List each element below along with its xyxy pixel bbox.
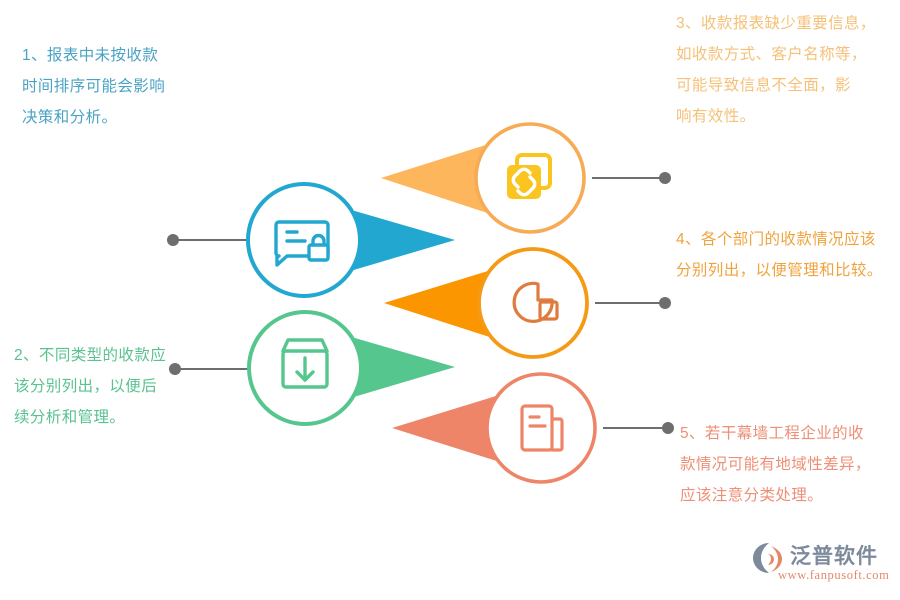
annotation-5: 5、若干幕墙工程企业的收 款情况可能有地域性差异， 应该注意分类处理。 (680, 418, 890, 511)
logo-name: 泛普软件 (790, 540, 878, 570)
annotation-1: 1、报表中未按收款 时间排序可能会影响 决策和分析。 (22, 40, 232, 133)
logo-url: www.fanpusoft.com (778, 568, 889, 583)
connector-node-5 (603, 422, 674, 434)
node-2[interactable] (249, 312, 361, 424)
annotation-3: 3、收款报表缺少重要信息， 如收款方式、客户名称等， 可能导致信息不全面，影 响… (676, 8, 888, 132)
node-1[interactable] (248, 184, 360, 296)
node-4[interactable] (479, 249, 587, 357)
node-3[interactable] (476, 124, 584, 232)
node-4-circle (479, 249, 587, 357)
infographic-canvas: 1、报表中未按收款 时间排序可能会影响 决策和分析。 2、不同类型的收款应 该分… (0, 0, 900, 600)
connector-node-3 (592, 172, 671, 184)
node-5[interactable] (487, 374, 595, 482)
connector-node-1 (167, 234, 246, 246)
brand-logo[interactable]: 泛普软件 www.fanpusoft.com (752, 540, 892, 592)
annotation-4: 4、各个部门的收款情况应该 分别列出，以便管理和比较。 (676, 224, 890, 286)
connector-node-4 (595, 297, 671, 309)
annotation-2: 2、不同类型的收款应 该分别列出，以便后 续分析和管理。 (14, 340, 204, 433)
node-5-circle (487, 374, 595, 482)
